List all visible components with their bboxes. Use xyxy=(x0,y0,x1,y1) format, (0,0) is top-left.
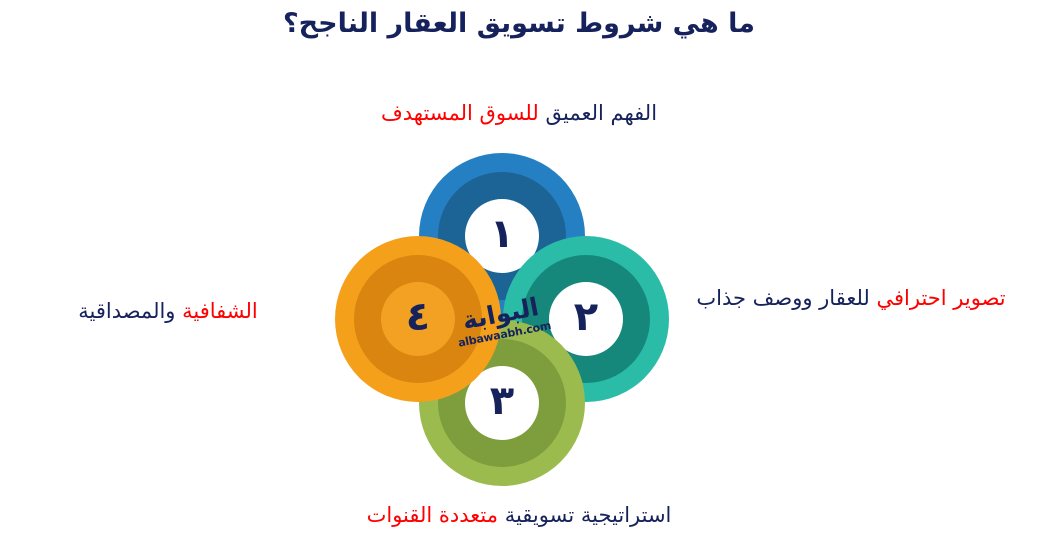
label-node-3-part-b: متعددة القنوات xyxy=(367,503,498,527)
node-1-numeral: ١ xyxy=(490,214,514,254)
label-node-2-part-a: تصوير احترافي xyxy=(877,286,1006,310)
label-node-2-part-b: للعقار ووصف جذاب xyxy=(696,286,869,310)
node-3-numeral: ٣ xyxy=(490,381,514,421)
label-node-1-part-b: للسوق المستهدف xyxy=(381,101,539,125)
label-node-1-part-a: الفهم العميق xyxy=(545,101,657,125)
node-circle-4[interactable]: ٤ xyxy=(335,236,501,402)
infographic-diagram: ١ ٢ ٣ ٤ البوابة albawaabh.com xyxy=(0,0,1038,542)
label-node-2: تصوير احترافي للعقار ووصف جذاب xyxy=(686,283,1016,313)
node-4-inner-ring: ٤ xyxy=(354,255,482,383)
label-node-1: الفهم العميق للسوق المستهدف xyxy=(269,98,769,128)
node-2-numeral: ٢ xyxy=(574,297,598,337)
label-node-3: استراتيجية تسويقية متعددة القنوات xyxy=(239,500,799,530)
label-node-4-part-b: والمصداقية xyxy=(78,299,175,323)
label-node-4: الشفافية والمصداقية xyxy=(18,296,318,326)
node-4-numeral: ٤ xyxy=(406,297,430,337)
node-4-core: ٤ xyxy=(381,282,455,356)
label-node-3-part-a: استراتيجية تسويقية xyxy=(505,503,672,527)
label-node-4-part-a: الشفافية xyxy=(182,299,258,323)
